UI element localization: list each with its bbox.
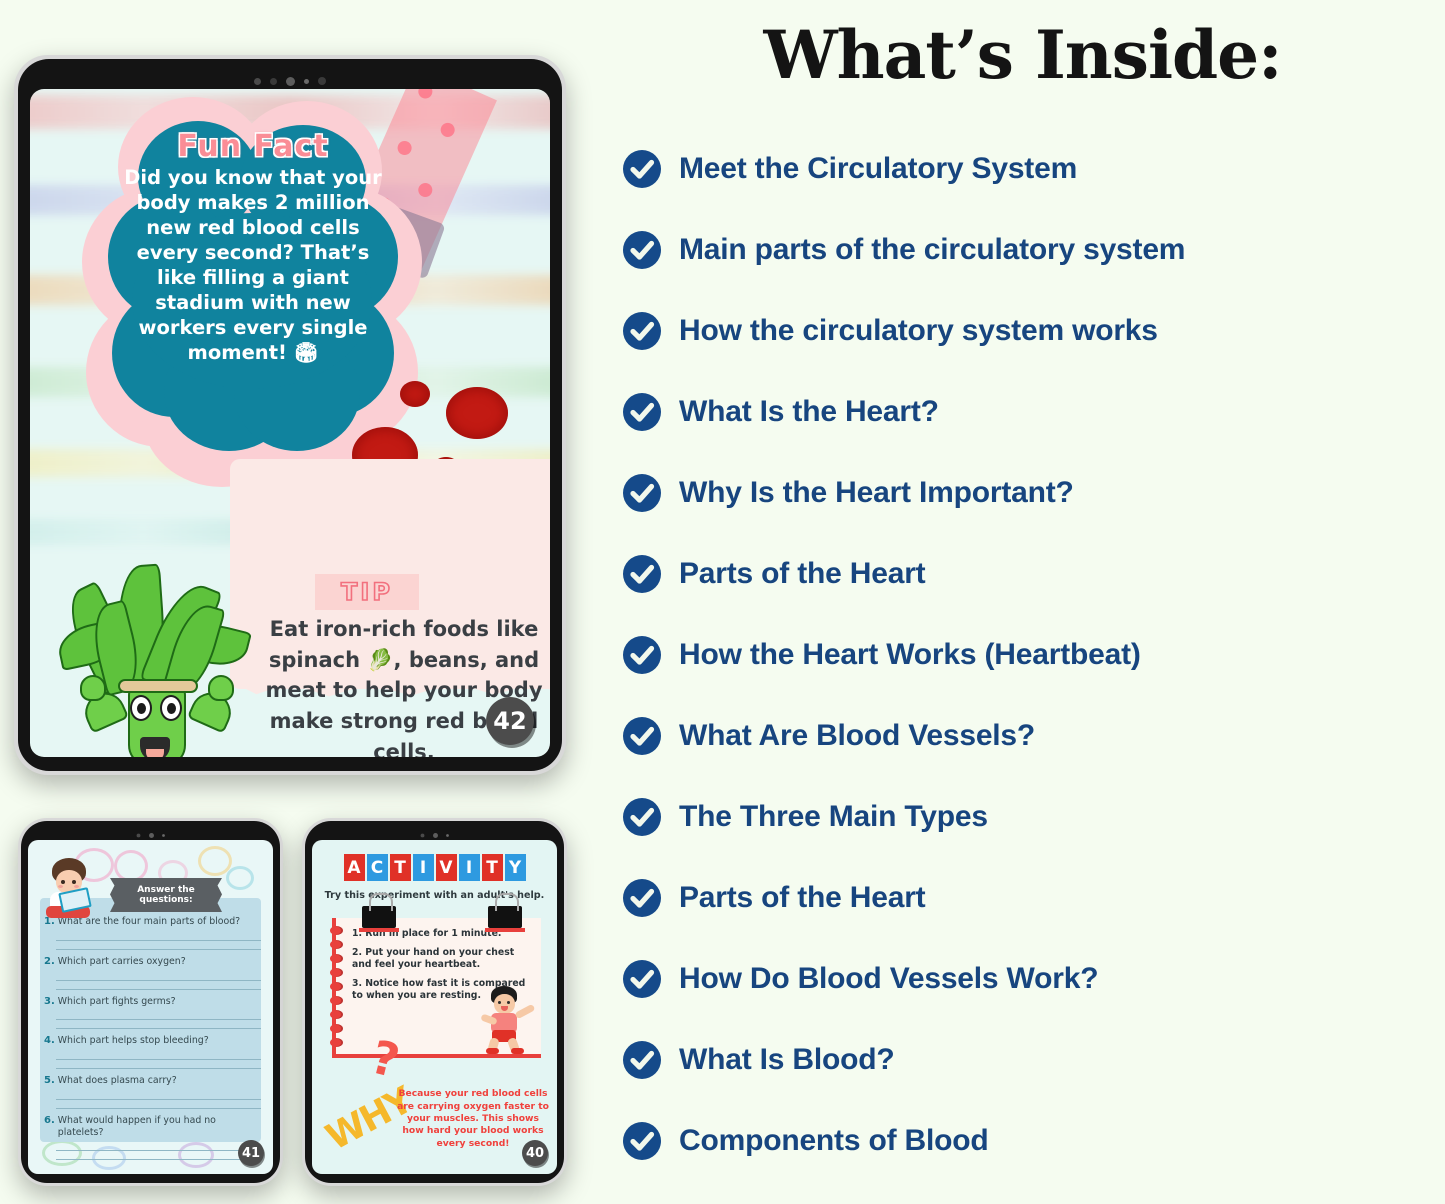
camera-dot-icon xyxy=(137,833,141,837)
activity-letter: I xyxy=(459,854,480,881)
activity-letter: A xyxy=(344,854,365,881)
list-item-label: What Is the Heart? xyxy=(679,395,939,429)
answer-lines[interactable] xyxy=(56,1142,261,1160)
list-item-label: The Three Main Types xyxy=(679,800,988,834)
contents-checklist: Meet the Circulatory System Main parts o… xyxy=(600,128,1445,1181)
question-text: Which part carries oxygen? xyxy=(58,956,186,968)
question-text: Which part helps stop bleeding? xyxy=(58,1035,209,1047)
question-number: 3. xyxy=(44,996,55,1008)
camera-lens-icon xyxy=(433,833,438,838)
camera-row xyxy=(30,73,550,89)
why-explanation: Because your red blood cells are carryin… xyxy=(397,1088,549,1150)
check-circle-icon xyxy=(622,554,662,594)
list-item[interactable]: What Is the Heart? xyxy=(622,371,1445,452)
reading-boy-icon xyxy=(38,856,100,918)
whats-inside-panel: What’s Inside: Meet the Circulatory Syst… xyxy=(600,0,1445,1204)
answer-lines[interactable] xyxy=(56,1091,261,1109)
camera-row xyxy=(28,830,273,840)
spinach-mascot-icon xyxy=(66,569,256,757)
list-item-label: Components of Blood xyxy=(679,1124,989,1158)
list-item: 4. Which part helps stop bleeding? xyxy=(44,1035,261,1069)
camera-dot-icon xyxy=(318,77,326,85)
check-circle-icon xyxy=(622,959,662,999)
question-text: What would happen if you had no platelet… xyxy=(58,1115,261,1139)
list-item-label: Why Is the Heart Important? xyxy=(679,476,1074,510)
activity-title: A C T I V I T Y xyxy=(344,854,526,881)
list-item[interactable]: Main parts of the circulatory system xyxy=(622,209,1445,290)
list-item: 1. What are the four main parts of blood… xyxy=(44,916,261,950)
list-item-label: What Is Blood? xyxy=(679,1043,895,1077)
tip-label: TIP xyxy=(341,578,393,606)
activity-subtitle: Try this experiment with an adult's help… xyxy=(312,890,557,901)
activity-letter: T xyxy=(390,854,411,881)
list-item-label: How the Heart Works (Heartbeat) xyxy=(679,638,1141,672)
camera-row xyxy=(312,830,557,840)
tablet-activity[interactable]: A C T I V I T Y Try this experiment with… xyxy=(302,818,567,1186)
activity-letter: C xyxy=(367,854,388,881)
activity-letter: I xyxy=(413,854,434,881)
page-number-badge: 42 xyxy=(486,697,534,745)
activity-letter: T xyxy=(482,854,503,881)
list-item: 2. Which part carries oxygen? xyxy=(44,956,261,990)
list-item[interactable]: How the Heart Works (Heartbeat) xyxy=(622,614,1445,695)
list-item[interactable]: What Are Blood Vessels? xyxy=(622,695,1445,776)
list-item-label: Parts of the Heart xyxy=(679,557,925,591)
page-title: What’s Inside: xyxy=(600,16,1445,94)
answer-banner: Answer the questions: xyxy=(110,878,222,912)
list-item-label: Meet the Circulatory System xyxy=(679,152,1077,186)
tablet-bezel: Fun Fact Did you know that your body mak… xyxy=(18,59,562,771)
camera-lens-icon xyxy=(286,77,295,86)
check-circle-icon xyxy=(622,1121,662,1161)
list-item[interactable]: The Three Main Types xyxy=(622,776,1445,857)
answer-lines[interactable] xyxy=(56,1011,261,1029)
answer-lines[interactable] xyxy=(56,972,261,990)
list-item[interactable]: How Do Blood Vessels Work? xyxy=(622,938,1445,1019)
banner-line-1: Answer the xyxy=(137,885,195,895)
tablet-bezel: A C T I V I T Y Try this experiment with… xyxy=(305,821,564,1183)
list-item[interactable]: What Is Blood? xyxy=(622,1019,1445,1100)
list-item-label: Parts of the Heart xyxy=(679,881,925,915)
page-number-badge: 41 xyxy=(238,1140,264,1166)
camera-dot-icon xyxy=(254,78,261,85)
check-circle-icon xyxy=(622,878,662,918)
camera-dot-icon xyxy=(446,834,449,837)
tablet-activity-screen: A C T I V I T Y Try this experiment with… xyxy=(312,840,557,1174)
tablet-main-screen: Fun Fact Did you know that your body mak… xyxy=(30,89,550,757)
tablet-questions-screen: Answer the questions: 1. What are the fo… xyxy=(28,840,273,1174)
check-circle-icon xyxy=(622,311,662,351)
activity-letter: Y xyxy=(505,854,526,881)
list-item-label: How Do Blood Vessels Work? xyxy=(679,962,1098,996)
answer-lines[interactable] xyxy=(56,1051,261,1069)
activity-step: 2. Put your hand on your chest and feel … xyxy=(352,947,533,971)
red-blood-cell xyxy=(446,387,508,439)
binder-clip-icon xyxy=(488,906,522,928)
list-item-label: What Are Blood Vessels? xyxy=(679,719,1035,753)
questions-list: 1. What are the four main parts of blood… xyxy=(44,916,261,1166)
check-circle-icon xyxy=(622,149,662,189)
check-circle-icon xyxy=(622,473,662,513)
running-kid-icon xyxy=(479,986,537,1052)
camera-lens-icon xyxy=(149,833,154,838)
red-blood-cell xyxy=(400,381,430,407)
fun-fact-block: Fun Fact Did you know that your body mak… xyxy=(122,129,384,366)
check-circle-icon xyxy=(622,716,662,756)
list-item: 5. What does plasma carry? xyxy=(44,1075,261,1109)
question-number: 2. xyxy=(44,956,55,968)
tablet-main[interactable]: Fun Fact Did you know that your body mak… xyxy=(14,55,566,775)
question-text: What does plasma carry? xyxy=(58,1075,177,1087)
banner-line-2: questions: xyxy=(139,895,192,905)
tablet-questions[interactable]: Answer the questions: 1. What are the fo… xyxy=(18,818,283,1186)
camera-dot-icon xyxy=(304,79,309,84)
camera-dot-icon xyxy=(162,834,165,837)
list-item[interactable]: Why Is the Heart Important? xyxy=(622,452,1445,533)
list-item[interactable]: How the circulatory system works xyxy=(622,290,1445,371)
check-circle-icon xyxy=(622,635,662,675)
check-circle-icon xyxy=(622,797,662,837)
answer-lines[interactable] xyxy=(56,932,261,950)
question-number: 4. xyxy=(44,1035,55,1047)
check-circle-icon xyxy=(622,230,662,270)
list-item-label: Main parts of the circulatory system xyxy=(679,233,1185,267)
list-item[interactable]: Meet the Circulatory System xyxy=(622,128,1445,209)
check-circle-icon xyxy=(622,1040,662,1080)
camera-dot-icon xyxy=(270,78,277,85)
tablets-column: Fun Fact Did you know that your body mak… xyxy=(0,0,600,1204)
list-item: 3. Which part fights germs? xyxy=(44,996,261,1030)
list-item: 6. What would happen if you had no plate… xyxy=(44,1115,261,1161)
tablet-bezel: Answer the questions: 1. What are the fo… xyxy=(21,821,280,1183)
page-number-badge: 40 xyxy=(522,1140,548,1166)
list-item[interactable]: Parts of the Heart xyxy=(622,857,1445,938)
fun-fact-title: Fun Fact xyxy=(122,129,384,164)
list-item[interactable]: Components of Blood xyxy=(622,1100,1445,1181)
activity-letter: V xyxy=(436,854,457,881)
list-item-label: How the circulatory system works xyxy=(679,314,1158,348)
question-number: 6. xyxy=(44,1115,55,1139)
list-item[interactable]: Parts of the Heart xyxy=(622,533,1445,614)
camera-dot-icon xyxy=(421,833,425,837)
tip-badge: TIP xyxy=(315,574,419,610)
question-text: Which part fights germs? xyxy=(58,996,176,1008)
fun-fact-body: Did you know that your body makes 2 mill… xyxy=(122,166,384,366)
check-circle-icon xyxy=(622,392,662,432)
question-number: 5. xyxy=(44,1075,55,1087)
activity-notepad: 1. Run in place for 1 minute. 2. Put you… xyxy=(332,918,541,1058)
binder-clip-icon xyxy=(362,906,396,928)
